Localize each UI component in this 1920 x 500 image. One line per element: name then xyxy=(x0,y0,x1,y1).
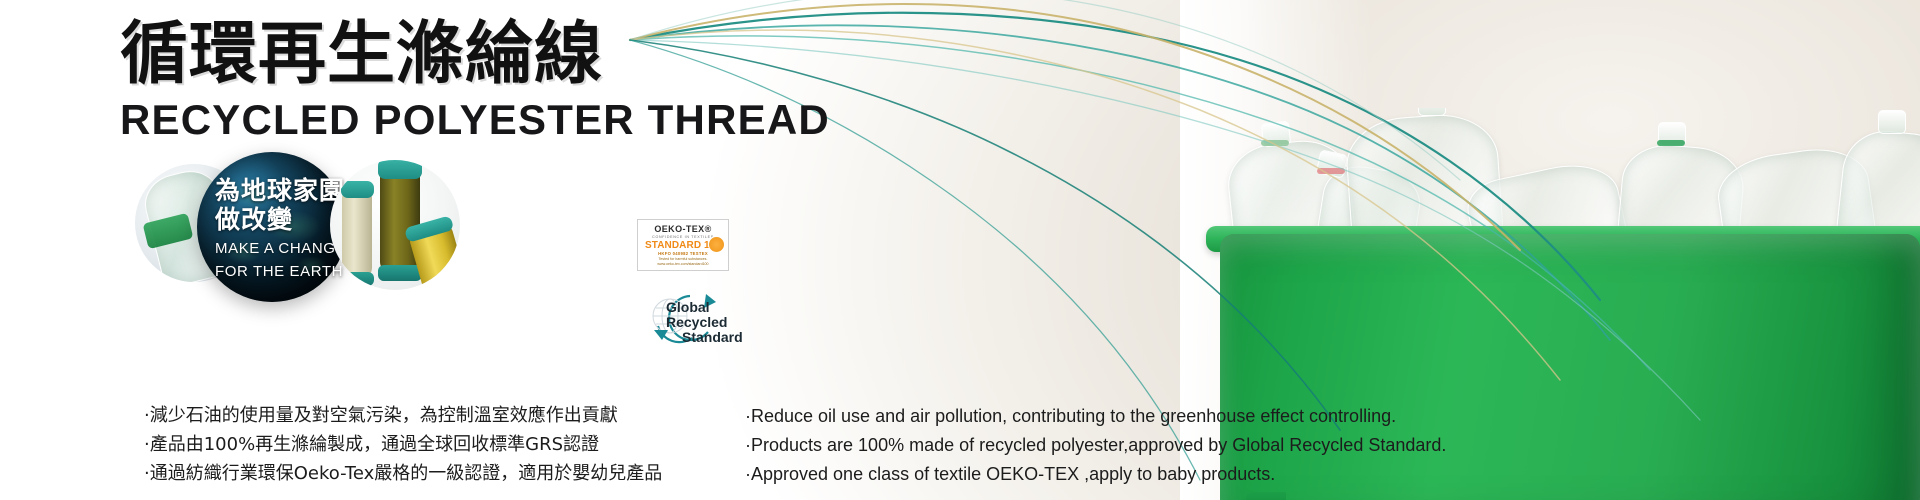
bullet-item: ·產品由100%再生滌綸製成，通過全球回收標準GRS認證 xyxy=(144,433,744,457)
bottle-ring xyxy=(1657,140,1685,146)
oeko-tex-certificate-label: OEKO-TEX® CONFIDENCE IN TEXTILES STANDAR… xyxy=(637,219,729,271)
grs-label: Global Recycled Standard xyxy=(666,300,746,345)
oeko-seal-icon xyxy=(709,237,724,252)
bullet-item: ·減少石油的使用量及對空氣污染，為控制溫室效應作出貢獻 xyxy=(144,404,744,428)
bullet-list-chinese: ·減少石油的使用量及對空氣污染，為控制溫室效應作出貢獻 ·產品由100%再生滌綸… xyxy=(144,404,744,491)
recycled-polyester-thread-banner: 循環再生滌綸線 RECYCLED POLYESTER THREAD 為地球家園 … xyxy=(0,0,1920,500)
bin-handle xyxy=(1246,492,1286,500)
oeko-fine-print-2: www.oeko-tex.com/standard100 xyxy=(642,262,724,267)
bullet-item: ·Approved one class of textile OEKO-TEX … xyxy=(745,462,1525,486)
bottle-neck xyxy=(1878,110,1906,134)
bottle-neck xyxy=(1418,108,1446,116)
global-recycled-standard-logo: Global Recycled Standard xyxy=(636,288,746,346)
bottle-ring xyxy=(1261,140,1289,146)
bullet-item: ·Products are 100% made of recycled poly… xyxy=(745,433,1525,457)
oeko-brand: OEKO-TEX® xyxy=(642,224,724,234)
page-title-cn: 循環再生滌綸線 xyxy=(120,18,840,92)
bullet-item: ·通過紡織行業環保Oeko-Tex嚴格的一級認證，適用於嬰幼兒產品 xyxy=(144,462,744,486)
bottle-ring xyxy=(1317,168,1345,174)
bullet-list-english: ·Reduce oil use and air pollution, contr… xyxy=(745,404,1525,491)
bullet-item: ·Reduce oil use and air pollution, contr… xyxy=(745,404,1525,428)
headline-block: 循環再生滌綸線 RECYCLED POLYESTER THREAD xyxy=(120,18,840,144)
thread-spools-circle xyxy=(330,160,460,290)
grs-line-2: Standard xyxy=(666,330,746,345)
page-title-en: RECYCLED POLYESTER THREAD xyxy=(120,96,840,144)
grs-line-1: Global Recycled xyxy=(666,300,746,330)
thread-spool-cream xyxy=(342,192,372,278)
